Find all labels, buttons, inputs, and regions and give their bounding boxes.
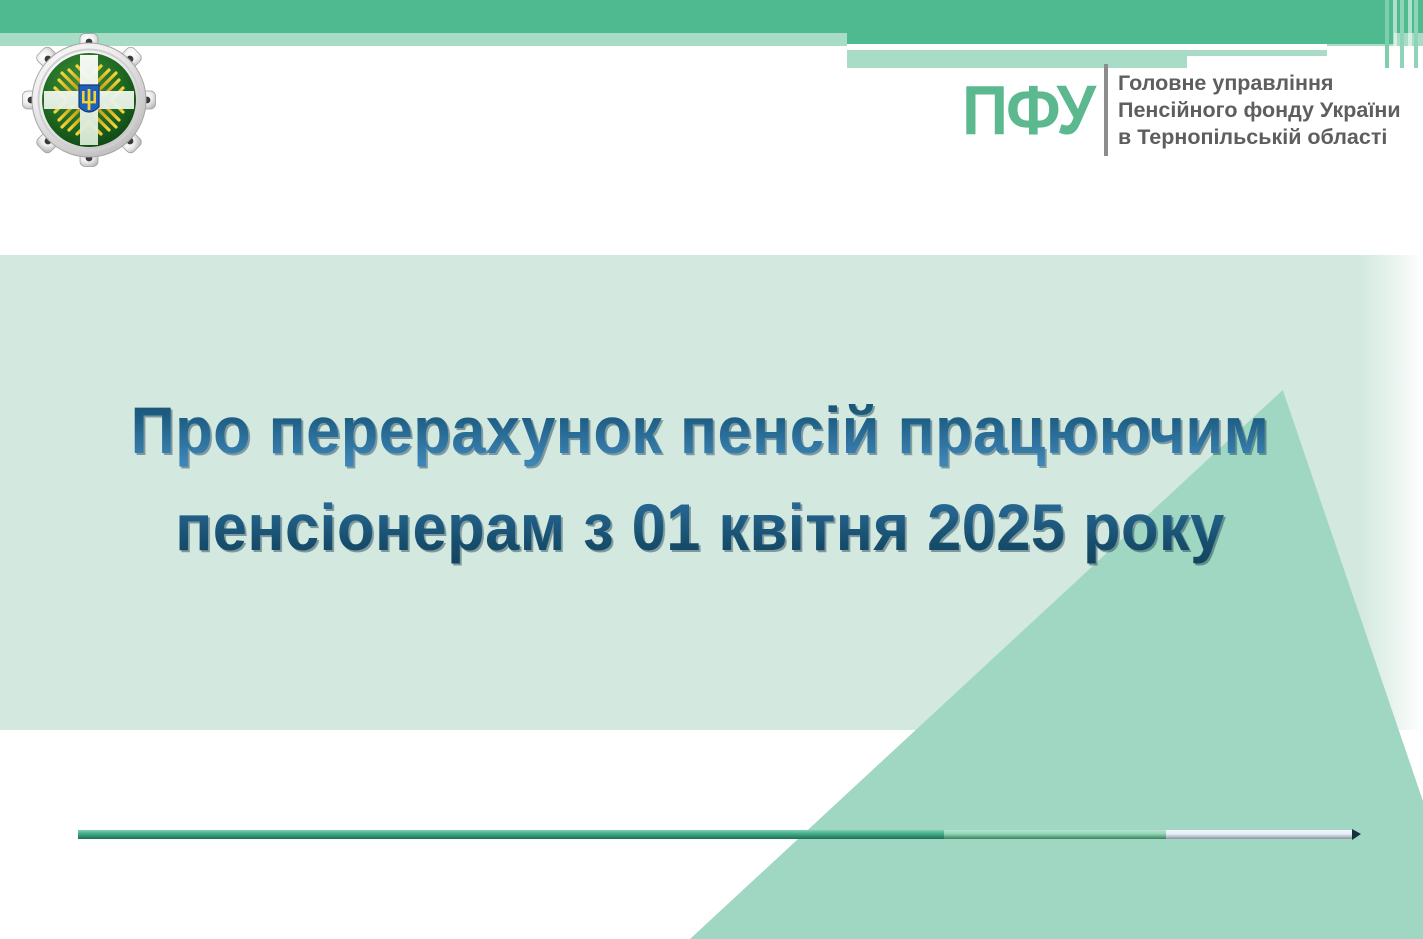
slide-title: Про перерахунок пенсій працюючим пенсіон… [49,382,1351,576]
organization-line-3: в Тернопільській області [1118,124,1401,151]
slide-canvas: ПФУ Головне управління Пенсійного фонду … [0,0,1423,939]
bottom-accent-bar [78,830,1360,839]
edge-stripe-4 [1408,0,1412,68]
edge-stripe-5 [1414,0,1418,68]
band-step-upper [847,33,1394,44]
accent-bar-tip [1352,829,1361,840]
pfu-logo-text: ПФУ [962,75,1104,144]
accent-segment-light-green [944,830,1166,839]
organization-line-1: Головне управління [1118,70,1401,97]
organization-name: Головне управління Пенсійного фонду Укра… [1118,70,1401,151]
organization-line-2: Пенсійного фонду України [1118,97,1401,124]
edge-stripe-3 [1400,0,1404,68]
top-green-band [0,0,1423,33]
accent-segment-green [78,830,944,839]
accent-segment-silver [1166,830,1352,839]
brand-divider [1104,64,1108,156]
pension-fund-of-ukraine-emblem-icon [22,33,156,167]
brand-block: ПФУ Головне управління Пенсійного фонду … [962,58,1401,162]
